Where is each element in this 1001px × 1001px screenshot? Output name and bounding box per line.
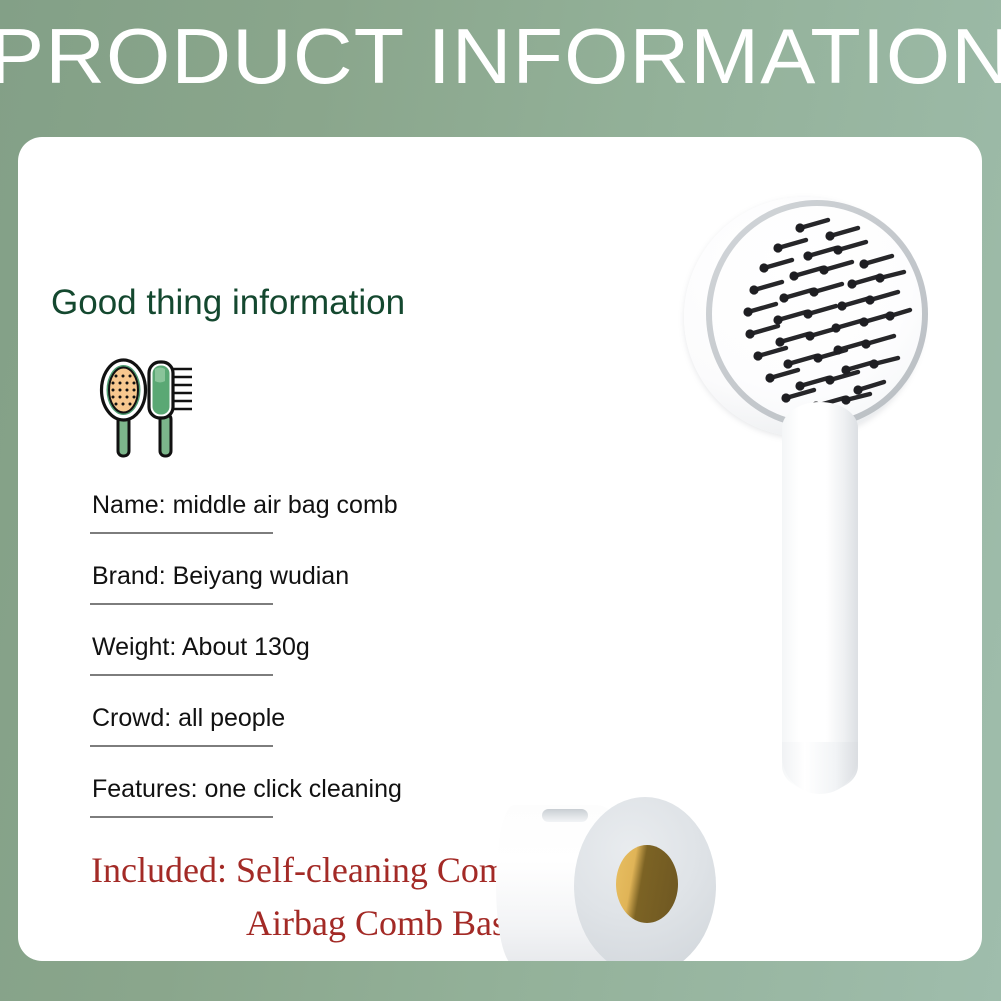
comb-head-face (712, 206, 922, 422)
spec-divider (90, 532, 273, 534)
spec-text: Name: middle air bag comb (92, 489, 398, 521)
spec-list: Name: middle air bag comb Brand: Beiyang… (74, 489, 534, 844)
hair-brush-and-comb-icon (93, 352, 197, 460)
spec-divider (90, 816, 273, 818)
spec-divider (90, 674, 273, 676)
spec-text: Features: one click cleaning (92, 773, 402, 805)
spec-row-weight: Weight: About 130g (74, 631, 534, 702)
spec-row-features: Features: one click cleaning (74, 773, 534, 844)
spec-row-name: Name: middle air bag comb (74, 489, 534, 560)
spec-text: Crowd: all people (92, 702, 285, 734)
spec-divider (90, 745, 273, 747)
product-information-page: PRODUCT INFORMATION Good thing informati… (0, 0, 1001, 1001)
comb-handle (782, 402, 858, 792)
spec-text: Weight: About 130g (92, 631, 310, 663)
comb-handle-tip (782, 742, 858, 794)
page-title: PRODUCT INFORMATION (0, 8, 1001, 104)
base-slot (542, 809, 588, 822)
spec-row-crowd: Crowd: all people (74, 702, 534, 773)
header-band: PRODUCT INFORMATION (0, 0, 1001, 120)
base-gold-inset (616, 845, 678, 923)
airbag-comb-base-photo (496, 797, 716, 961)
section-title: Good thing information (51, 282, 405, 324)
comb-bristles (712, 206, 922, 422)
spec-text: Brand: Beiyang wudian (92, 560, 349, 592)
info-card: Good thing information (18, 137, 982, 961)
spec-row-brand: Brand: Beiyang wudian (74, 560, 534, 631)
spec-divider (90, 603, 273, 605)
self-cleaning-comb-photo (654, 197, 944, 887)
